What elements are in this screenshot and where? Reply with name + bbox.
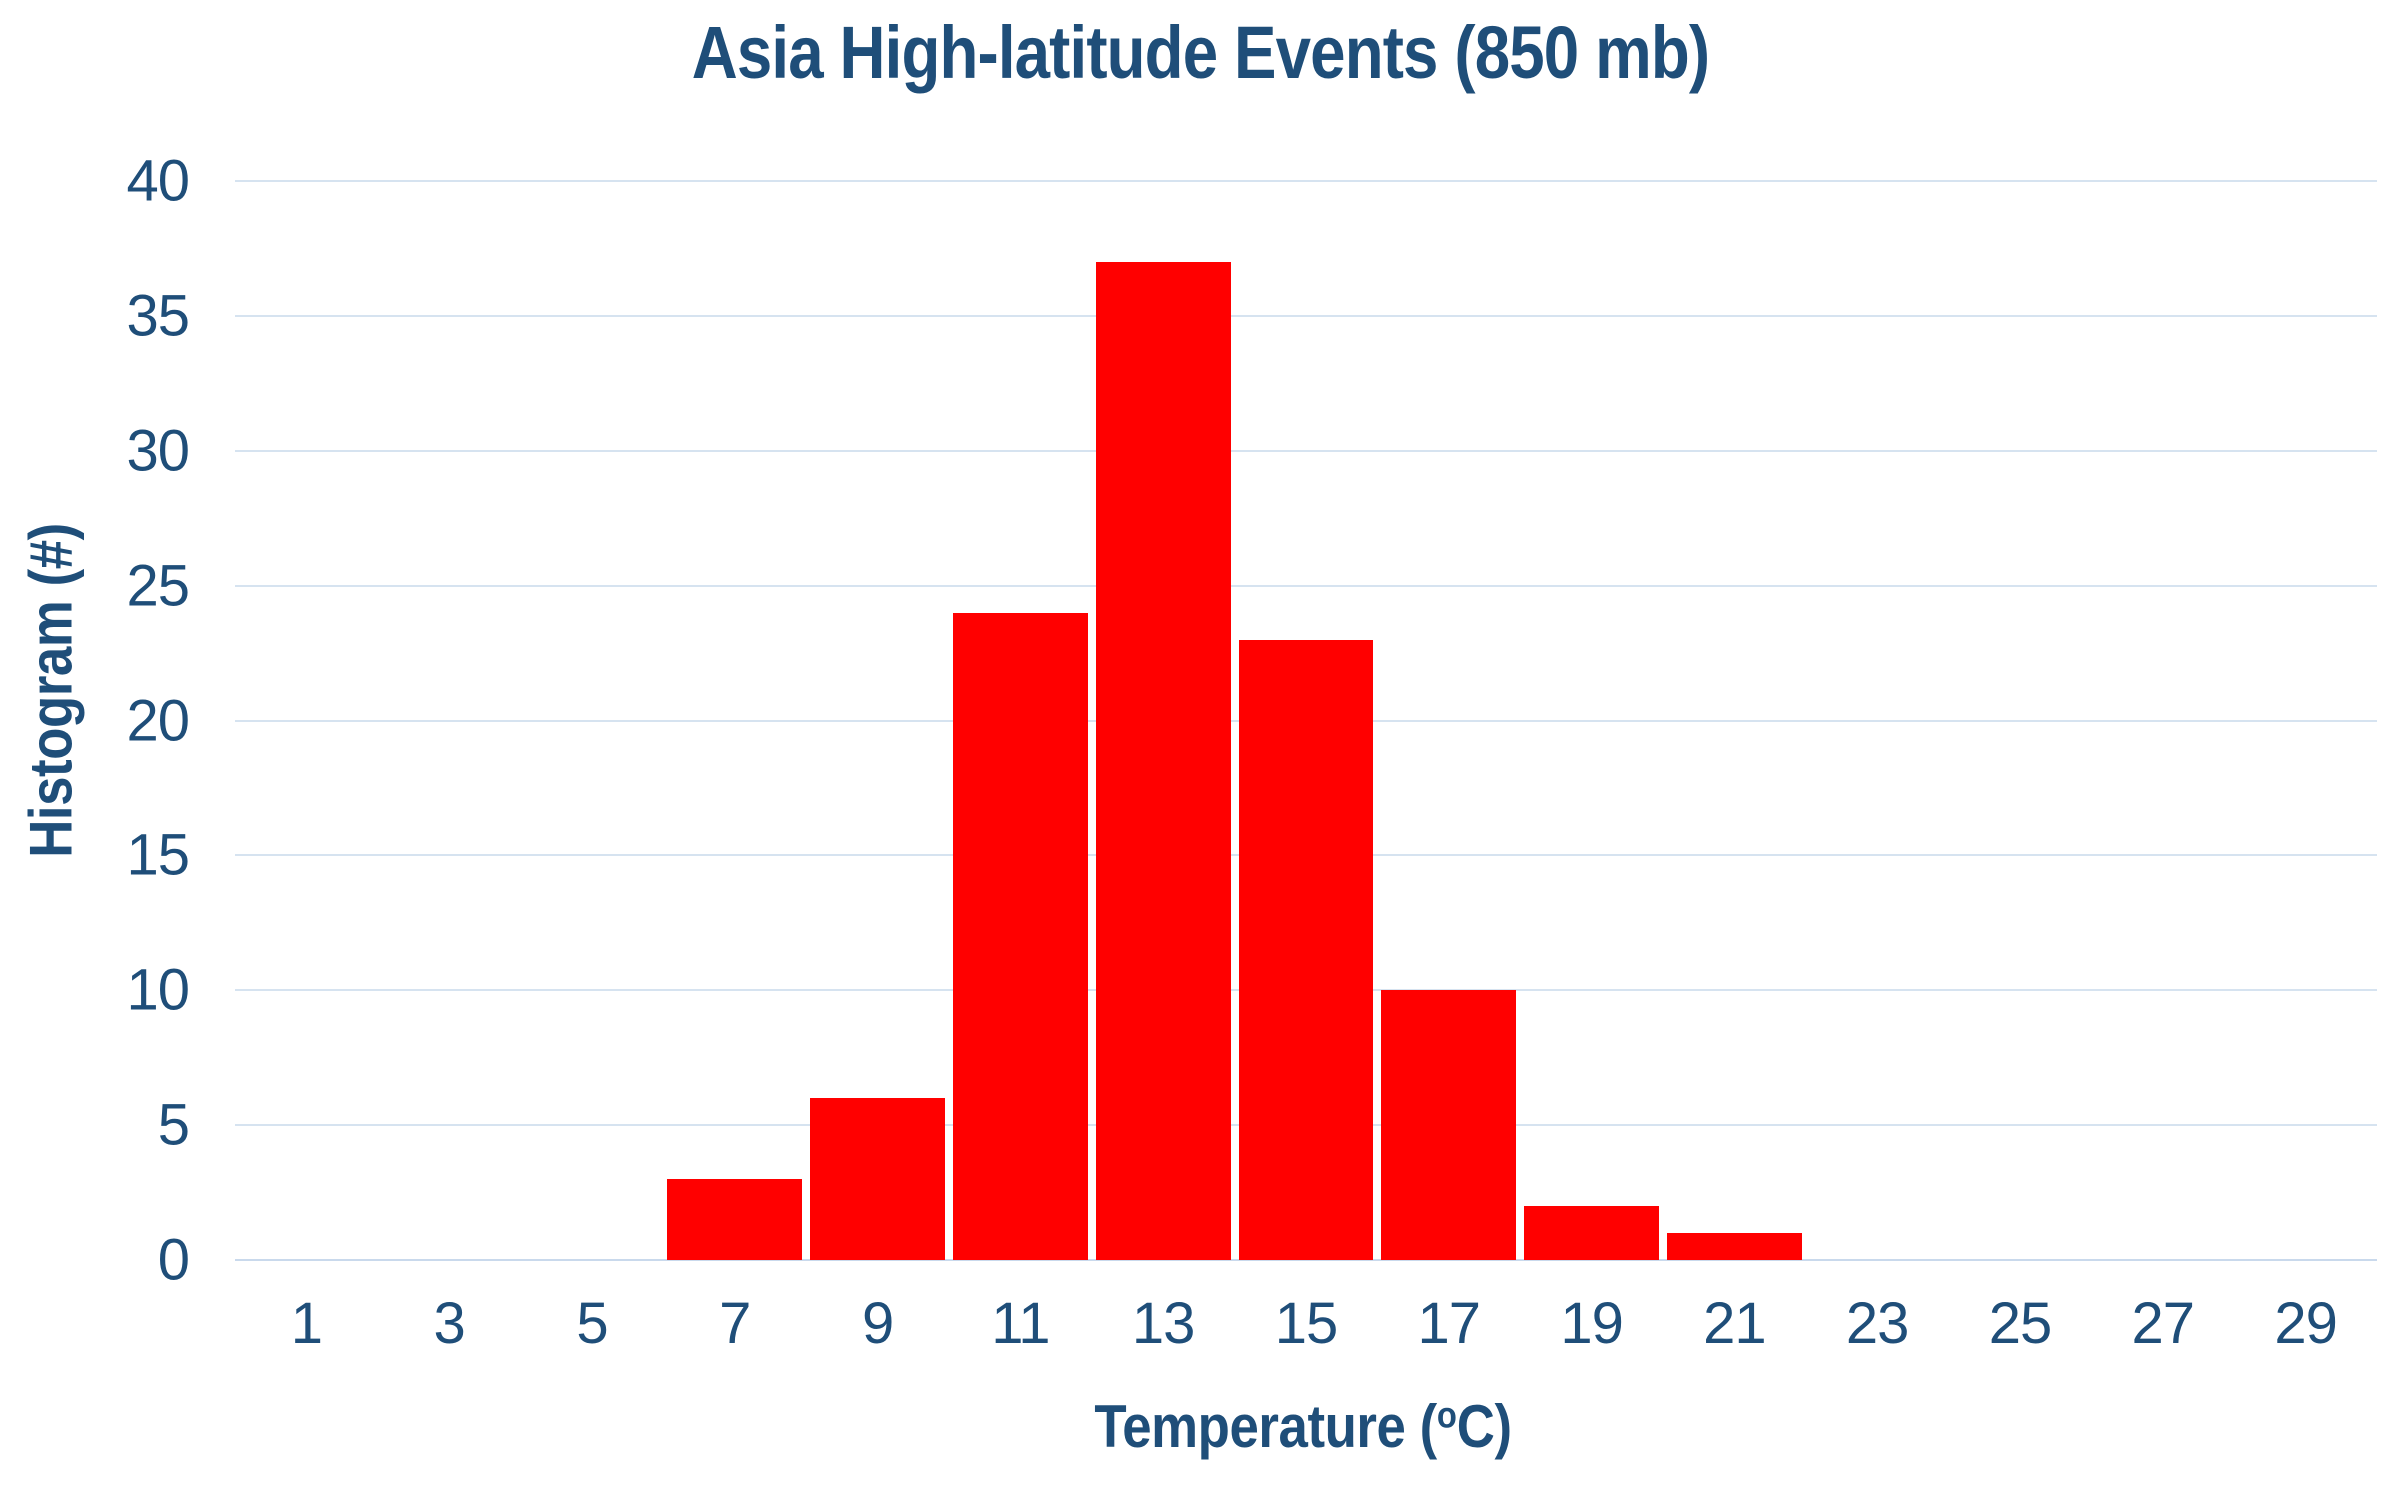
x-tick-label-29: 29 [2274, 1290, 2337, 1357]
y-tick-label-30: 30 [126, 417, 189, 484]
x-axis-tick-labels: 1357911131517192123252729 [235, 1290, 2377, 1376]
bar-slot [1377, 181, 1520, 1260]
chart-title: Asia High-latitude Events (850 mb) [168, 14, 2233, 92]
bar-slot [1092, 181, 1235, 1260]
bar[interactable] [1667, 1233, 1802, 1260]
y-axis-tick-labels: 0510152025303540 [0, 181, 215, 1260]
y-tick-label-40: 40 [126, 148, 189, 215]
x-tick-label-13: 13 [1132, 1290, 1195, 1357]
histogram-chart: Asia High-latitude Events (850 mb) Histo… [0, 0, 2401, 1502]
bar[interactable] [1524, 1206, 1659, 1260]
plot-area [235, 181, 2377, 1260]
x-tick-label-25: 25 [1989, 1290, 2052, 1357]
x-tick-label-23: 23 [1846, 1290, 1909, 1357]
bar[interactable] [810, 1098, 945, 1260]
y-tick-label-10: 10 [126, 957, 189, 1024]
degree-symbol-icon: o [1437, 1394, 1457, 1436]
bar-slot [663, 181, 806, 1260]
bar[interactable] [1096, 262, 1231, 1260]
bar-slot [949, 181, 1092, 1260]
x-axis-title-main: Temperature ( [1094, 1393, 1436, 1460]
x-tick-label-7: 7 [719, 1290, 750, 1357]
y-tick-label-5: 5 [158, 1092, 189, 1159]
x-tick-label-1: 1 [291, 1290, 322, 1357]
x-tick-label-17: 17 [1418, 1290, 1481, 1357]
x-axis-title: Temperature (oC) [363, 1392, 2243, 1461]
bar[interactable] [1381, 990, 1516, 1260]
y-tick-label-15: 15 [126, 822, 189, 889]
x-axis-title-tail: C) [1457, 1393, 1512, 1460]
x-tick-label-11: 11 [991, 1290, 1049, 1357]
bar-slot [1663, 181, 1806, 1260]
bar[interactable] [1239, 640, 1374, 1260]
x-tick-label-27: 27 [2132, 1290, 2195, 1357]
x-tick-label-21: 21 [1703, 1290, 1766, 1357]
bar[interactable] [953, 613, 1088, 1260]
x-tick-label-9: 9 [862, 1290, 893, 1357]
bars-layer [235, 181, 2377, 1260]
y-tick-label-20: 20 [126, 687, 189, 754]
x-tick-label-19: 19 [1560, 1290, 1623, 1357]
x-tick-label-15: 15 [1275, 1290, 1338, 1357]
x-tick-label-3: 3 [434, 1290, 465, 1357]
y-tick-label-35: 35 [126, 282, 189, 349]
bar[interactable] [667, 1179, 802, 1260]
y-tick-label-0: 0 [158, 1227, 189, 1294]
bar-slot [1235, 181, 1378, 1260]
bar-slot [806, 181, 949, 1260]
y-tick-label-25: 25 [126, 552, 189, 619]
x-tick-label-5: 5 [576, 1290, 607, 1357]
bar-slot [1520, 181, 1663, 1260]
